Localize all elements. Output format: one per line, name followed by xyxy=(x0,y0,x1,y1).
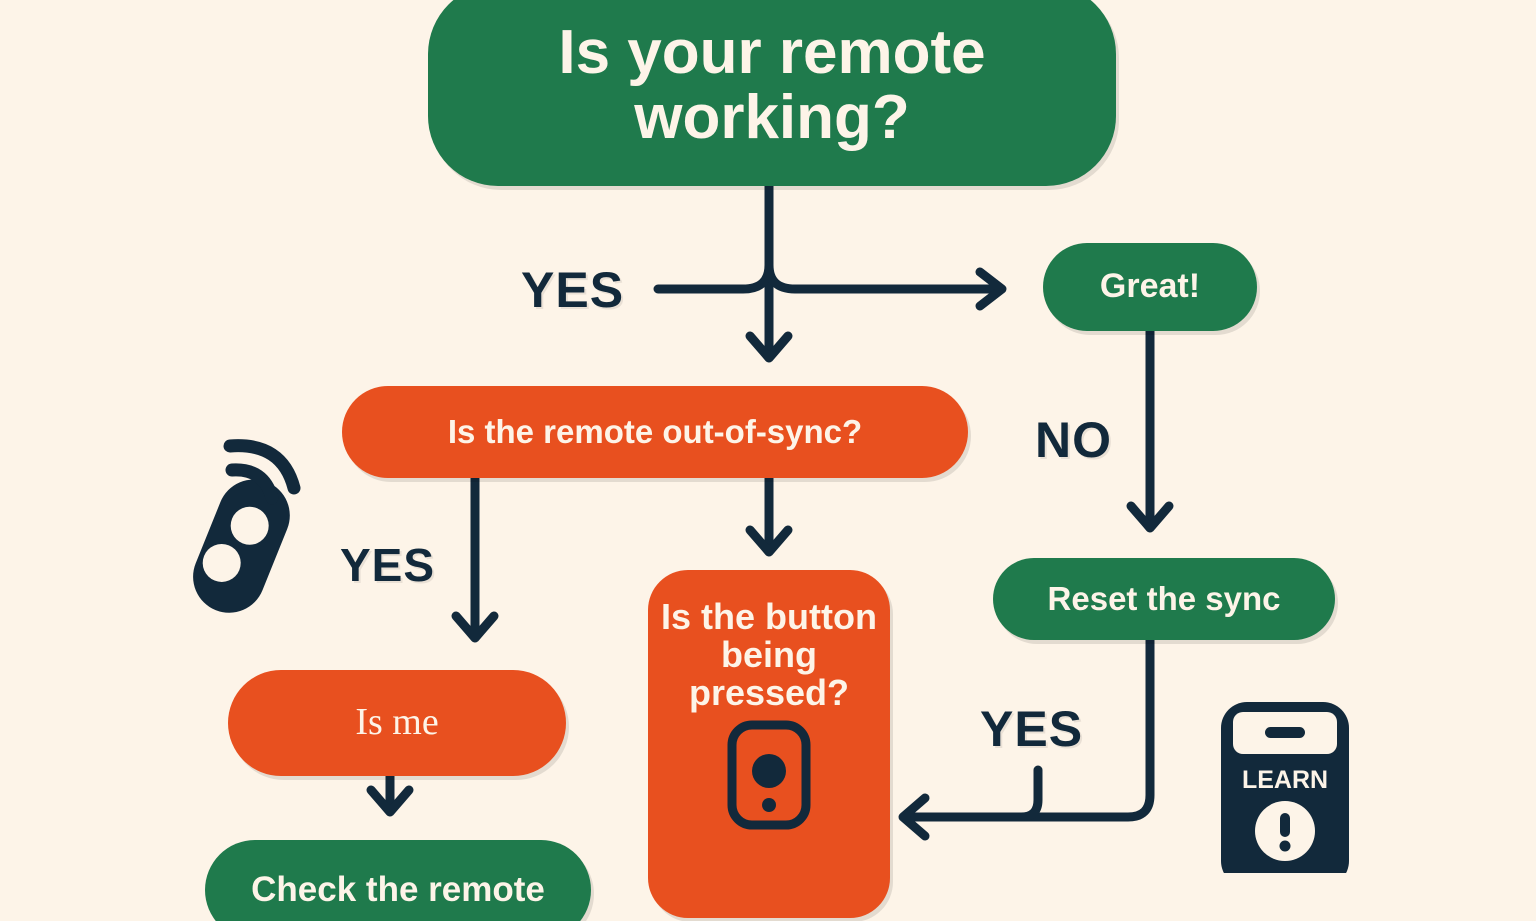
node-is-me[interactable]: Is me xyxy=(228,670,566,776)
edge-junction-to-great xyxy=(769,265,995,289)
arrowhead-to-out-of-sync xyxy=(750,336,788,358)
node-is-the-remote-out-of-sync[interactable]: Is the remote out-of-sync? xyxy=(342,386,968,478)
edge-root-to-great xyxy=(658,265,769,289)
node-is-me-label: Is me xyxy=(355,703,438,743)
device-button-icon xyxy=(726,719,812,831)
learn-device-text: LEARN xyxy=(1242,766,1328,794)
learn-device-icon: LEARN xyxy=(1215,698,1355,873)
node-check-the-remote[interactable]: Check the remote xyxy=(205,840,591,921)
remote-control-signal-icon xyxy=(160,420,330,620)
arrowhead-to-great xyxy=(980,272,1002,306)
arrowhead-to-reset-sync xyxy=(1131,506,1169,528)
arrowhead-to-buttonpressed-left xyxy=(903,798,925,836)
arrowhead-to-checkremote xyxy=(371,790,409,812)
edge-label-yes-top: YES xyxy=(521,261,624,319)
edge-label-yes-right: YES xyxy=(980,700,1083,758)
node-check-remote-label: Check the remote xyxy=(251,872,545,909)
node-reset-sync-label: Reset the sync xyxy=(1048,582,1281,617)
node-is-your-remote-working[interactable]: Is your remote working? xyxy=(428,0,1116,186)
node-great-label: Great! xyxy=(1100,269,1200,305)
edge-label-yes-left: YES xyxy=(340,538,435,592)
edge-label-no: NO xyxy=(1035,411,1112,469)
flowchart-canvas: Is your remote working? Great! Is the re… xyxy=(0,0,1536,921)
edge-resetsync-stub xyxy=(1021,770,1038,817)
node-button-pressed-label: Is the button being pressed? xyxy=(648,598,890,711)
node-root-label: Is your remote working? xyxy=(468,20,1076,150)
node-is-the-button-being-pressed[interactable]: Is the button being pressed? xyxy=(648,570,890,918)
node-out-of-sync-label: Is the remote out-of-sync? xyxy=(448,415,862,450)
arrowhead-to-isme xyxy=(456,616,494,638)
node-great[interactable]: Great! xyxy=(1043,243,1257,331)
node-reset-the-sync[interactable]: Reset the sync xyxy=(993,558,1335,640)
arrowhead-to-buttonpressed xyxy=(750,530,788,552)
